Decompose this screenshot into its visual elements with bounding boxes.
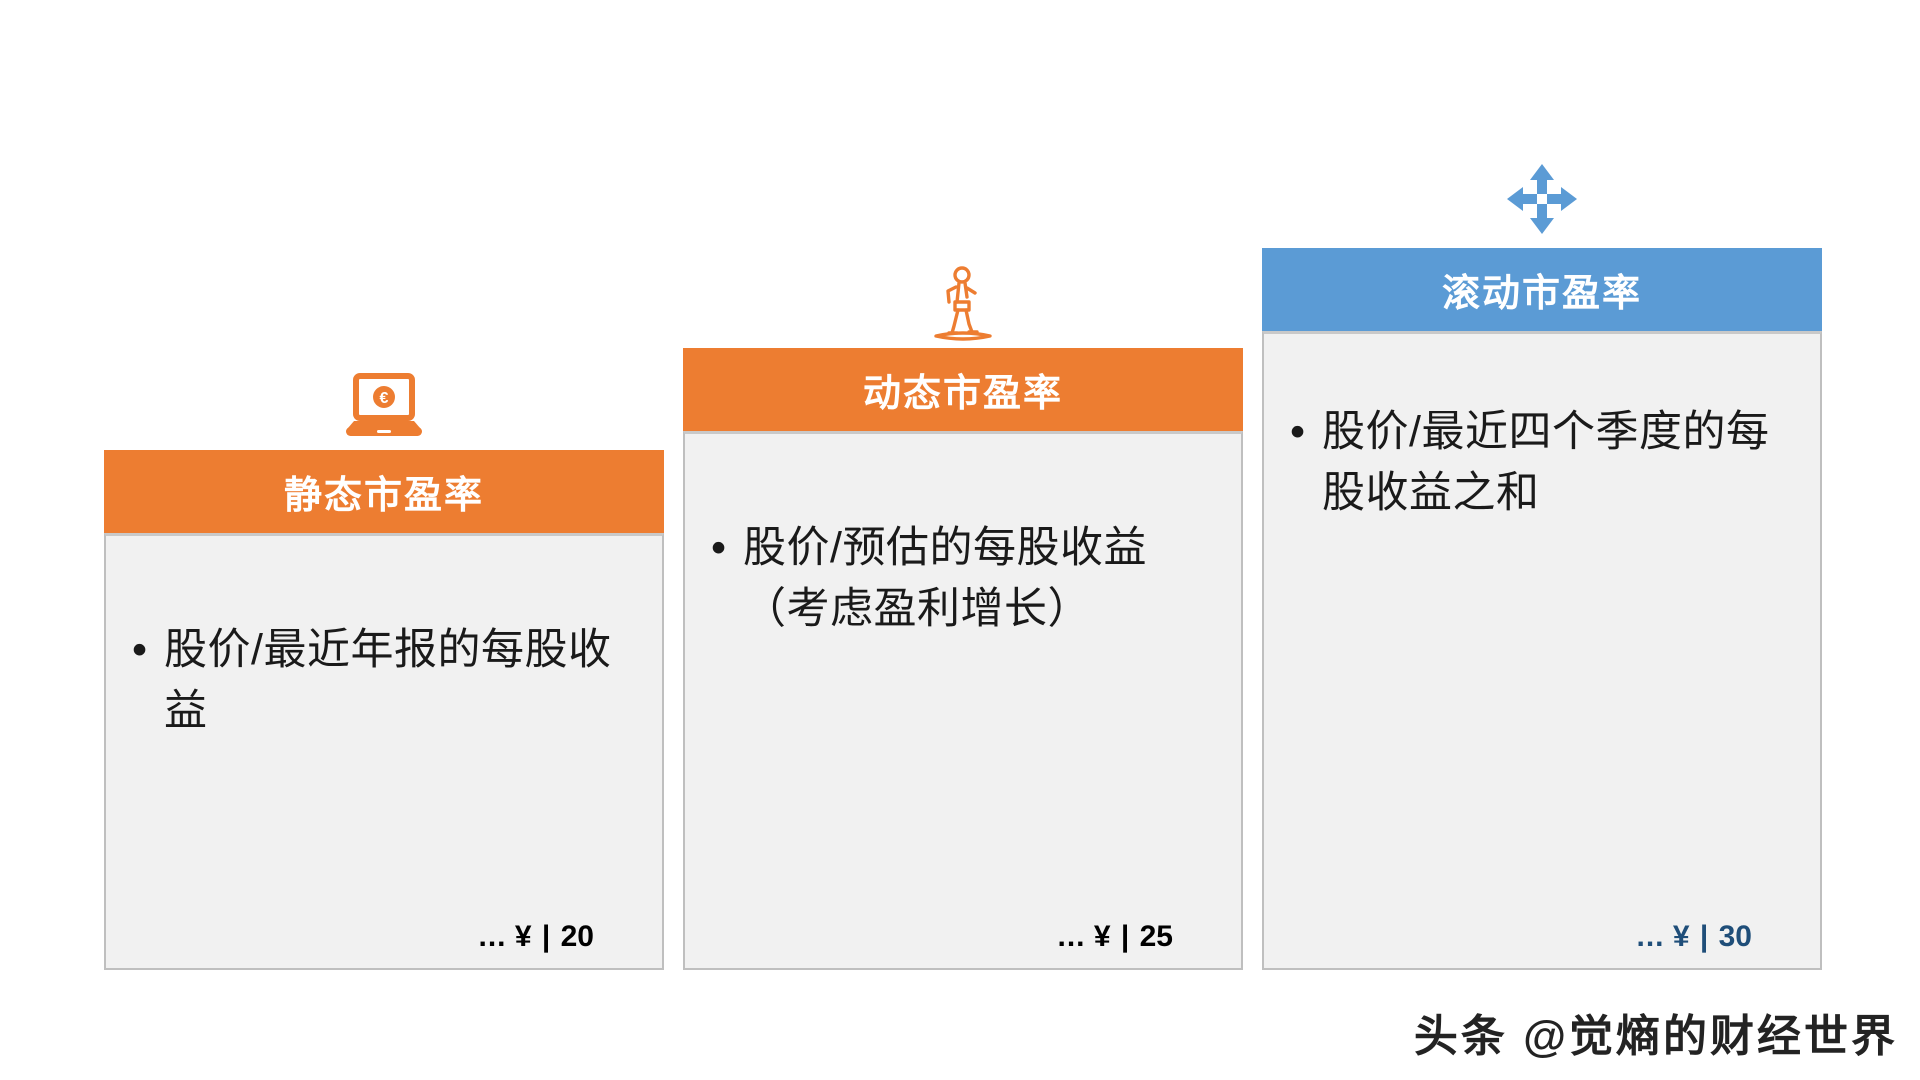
laptop-euro-icon: € [342,370,426,442]
pe-card-forward: 动态市盈率 股价/预估的每股收益（考虑盈利增长） ... ¥ | 25 [683,348,1243,970]
yen-symbol: ¥ [1094,920,1111,953]
bullet-text: 股价/最近年报的每股收益 [164,620,636,742]
bullet-list: 股价/预估的每股收益（考虑盈利增长） [711,456,1215,920]
yen-symbol: ¥ [515,920,532,953]
card-header-trailing-pe: 滚动市盈率 [1262,248,1822,331]
list-item: 股价/最近四个季度的每股收益之和 [1290,402,1794,524]
pe-card-trailing: 滚动市盈率 股价/最近四个季度的每股收益之和 ... ¥ | 30 [1262,248,1822,970]
card-body-trailing-pe: 股价/最近四个季度的每股收益之和 ... ¥ | 30 [1262,331,1822,970]
footer-separator: | [1119,920,1131,953]
card-body-forward-pe: 股价/预估的每股收益（考虑盈利增长） ... ¥ | 25 [683,431,1243,970]
bullet-list: 股价/最近年报的每股收益 [132,558,636,920]
footer-separator: | [1698,920,1710,953]
pe-card-static: € 静态市盈率 股价/最近年报的每股收益 ... ¥ | 20 [104,450,664,970]
card-header-static-pe: 静态市盈率 [104,450,664,533]
footer-value: 30 [1719,920,1752,953]
four-way-move-arrows-icon [1505,162,1579,236]
bullet-text: 股价/最近四个季度的每股收益之和 [1322,402,1794,524]
card-footer-static-pe: ... ¥ | 20 [132,920,636,968]
surfer-paddleboard-icon [928,266,998,342]
list-item: 股价/预估的每股收益（考虑盈利增长） [711,518,1215,640]
footer-dots: ... [1636,920,1664,953]
bullet-list: 股价/最近四个季度的每股收益之和 [1290,356,1794,920]
card-header-forward-pe: 动态市盈率 [683,348,1243,431]
card-footer-forward-pe: ... ¥ | 25 [711,920,1215,968]
footer-value: 25 [1140,920,1173,953]
svg-text:€: € [380,390,389,407]
card-footer-trailing-pe: ... ¥ | 30 [1290,920,1794,968]
footer-dots: ... [478,920,506,953]
footer-separator: | [540,920,552,953]
yen-symbol: ¥ [1673,920,1690,953]
watermark: 头条 @觉熵的财经世界 [1414,1000,1898,1064]
list-item: 股价/最近年报的每股收益 [132,620,636,742]
bullet-text: 股价/预估的每股收益（考虑盈利增长） [743,518,1215,640]
card-body-static-pe: 股价/最近年报的每股收益 ... ¥ | 20 [104,533,664,970]
footer-value: 20 [561,920,594,953]
footer-dots: ... [1057,920,1085,953]
